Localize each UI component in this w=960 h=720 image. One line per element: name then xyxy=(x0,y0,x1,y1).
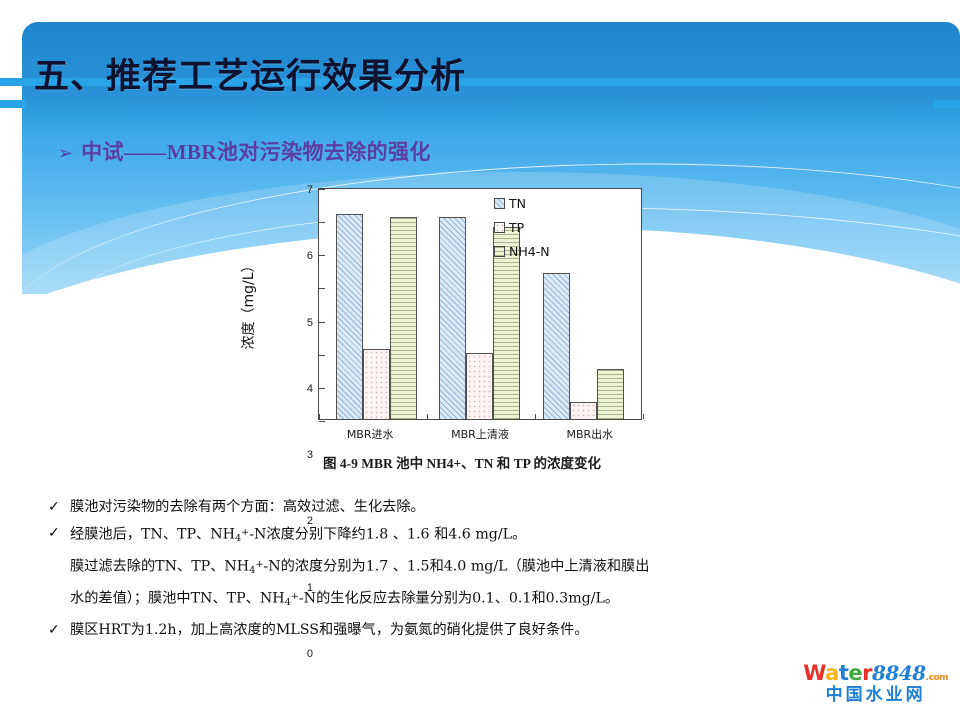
body-bullet-block: ✓经膜池后，TN、TP、NH4+-N浓度分别下降约1.8 、1.6 和4.6 m… xyxy=(48,520,918,617)
body-bullet-block: ✓膜区HRT为1.2h，加上高浓度的MLSS和强曝气，为氨氮的硝化提供了良好条件… xyxy=(48,617,918,643)
body-lines: 膜区HRT为1.2h，加上高浓度的MLSS和强曝气，为氨氮的硝化提供了良好条件。 xyxy=(70,617,918,643)
chart-bar-tn xyxy=(336,214,363,419)
chart-legend-swatch-icon xyxy=(494,246,505,257)
chart-bar-tp xyxy=(363,349,390,419)
accent-stripe-right-tab xyxy=(934,100,960,108)
chart-y-tick-label: 4 xyxy=(307,383,313,395)
body-lines: 经膜池后，TN、TP、NH4+-N浓度分别下降约1.8 、1.6 和4.6 mg… xyxy=(70,520,918,617)
formula-superscript: + xyxy=(241,527,249,538)
chart-x-tick-label: MBR上清液 xyxy=(451,426,509,442)
body-text-block: ✓膜池对污染物的去除有两个方面：高效过滤、生化去除。✓经膜池后，TN、TP、NH… xyxy=(48,494,918,643)
logo-wordmark: Water8848.com xyxy=(803,663,948,684)
check-bullet-icon: ✓ xyxy=(48,494,70,520)
logo-letter-t: t xyxy=(839,661,849,685)
chart-legend-swatch-icon xyxy=(494,222,505,233)
logo-tld: .com xyxy=(926,673,948,683)
concentration-bar-chart: 浓度（mg/L） 01234567 MBR进水MBR上清液MBR出水 TNTPN… xyxy=(252,182,672,480)
chart-y-axis-label: 浓度（mg/L） xyxy=(238,258,258,349)
chart-y-tick-label: 7 xyxy=(307,184,313,196)
chart-y-tick-label: 0 xyxy=(307,648,313,660)
logo-chinese-name: 中国水业网 xyxy=(803,687,948,704)
logo-letter-w: W xyxy=(803,661,825,685)
body-line: 水的差值）；膜池中TN、TP、NH4+-N的生化反应去除量分别为0.1、0.1和… xyxy=(70,584,918,616)
chart-bar-nh4-n xyxy=(597,369,624,419)
check-bullet-icon: ✓ xyxy=(48,520,70,546)
chart-bar-tp xyxy=(570,402,597,419)
chart-legend-swatch-icon xyxy=(494,198,505,209)
chart-x-tick-label: MBR进水 xyxy=(347,426,394,442)
subtitle-text: 中试——MBR池对污染物去除的强化 xyxy=(81,136,431,166)
chart-y-tick-label: 5 xyxy=(307,317,313,329)
body-line: 膜过滤去除的TN、TP、NH4+-N的浓度分别为1.7 、1.5和4.0 mg/… xyxy=(70,552,918,584)
chart-plot-area: 01234567 xyxy=(318,188,642,420)
chart-bar-groups xyxy=(319,189,641,419)
arrow-bullet-icon: ➢ xyxy=(58,144,73,162)
chart-bar-group xyxy=(543,189,624,419)
chart-bar-tp xyxy=(466,353,493,419)
body-line: 膜区HRT为1.2h，加上高浓度的MLSS和强曝气，为氨氮的硝化提供了良好条件。 xyxy=(70,617,918,643)
chart-y-tick-label: 6 xyxy=(307,250,313,262)
logo-letter-e: e xyxy=(848,661,862,685)
chart-legend-item: TN xyxy=(494,196,550,211)
check-bullet-icon: ✓ xyxy=(48,617,70,643)
chart-legend-label: NH4-N xyxy=(509,244,550,259)
chart-y-tick-mark: 0 xyxy=(319,421,325,422)
subtitle-row: ➢ 中试——MBR池对污染物去除的强化 xyxy=(58,136,431,166)
logo-digits: 8848 xyxy=(872,661,926,685)
chart-x-tick-mark xyxy=(319,414,320,419)
logo-letter-a: a xyxy=(825,661,839,685)
chart-x-tick-mark xyxy=(535,414,536,419)
body-line: 膜池对污染物的去除有两个方面：高效过滤、生化去除。 xyxy=(70,494,918,520)
chart-x-axis-labels: MBR进水MBR上清液MBR出水 xyxy=(318,426,642,442)
chart-bar-tn xyxy=(439,217,466,419)
chart-x-tick-mark xyxy=(427,414,428,419)
body-line: 经膜池后，TN、TP、NH4+-N浓度分别下降约1.8 、1.6 和4.6 mg… xyxy=(70,520,918,552)
formula-superscript: + xyxy=(291,591,299,602)
chart-x-tick-mark xyxy=(643,414,644,419)
chart-legend-item: NH4-N xyxy=(494,244,550,259)
logo-letter-r: r xyxy=(862,661,872,685)
chart-caption: 图 4-9 MBR 池中 NH4+、TN 和 TP 的浓度变化 xyxy=(252,452,672,472)
chart-bar-tn xyxy=(543,273,570,419)
chart-x-tick-label: MBR出水 xyxy=(566,426,613,442)
formula-superscript: + xyxy=(255,559,263,570)
chart-bar-nh4-n xyxy=(390,217,417,419)
body-bullet-block: ✓膜池对污染物的去除有两个方面：高效过滤、生化去除。 xyxy=(48,494,918,520)
chart-legend-label: TP xyxy=(509,220,524,235)
body-lines: 膜池对污染物的去除有两个方面：高效过滤、生化去除。 xyxy=(70,494,918,520)
chart-legend: TNTPNH4-N xyxy=(494,196,550,259)
chart-legend-item: TP xyxy=(494,220,550,235)
chart-legend-label: TN xyxy=(509,196,526,211)
page-title: 五、推荐工艺运行效果分析 xyxy=(34,48,466,99)
slide-canvas: 五、推荐工艺运行效果分析 ➢ 中试——MBR池对污染物去除的强化 浓度（mg/L… xyxy=(0,0,960,720)
accent-stripe-left-tab xyxy=(0,100,26,108)
site-logo: Water8848.com 中国水业网 xyxy=(803,663,948,704)
chart-bar-group xyxy=(336,189,417,419)
